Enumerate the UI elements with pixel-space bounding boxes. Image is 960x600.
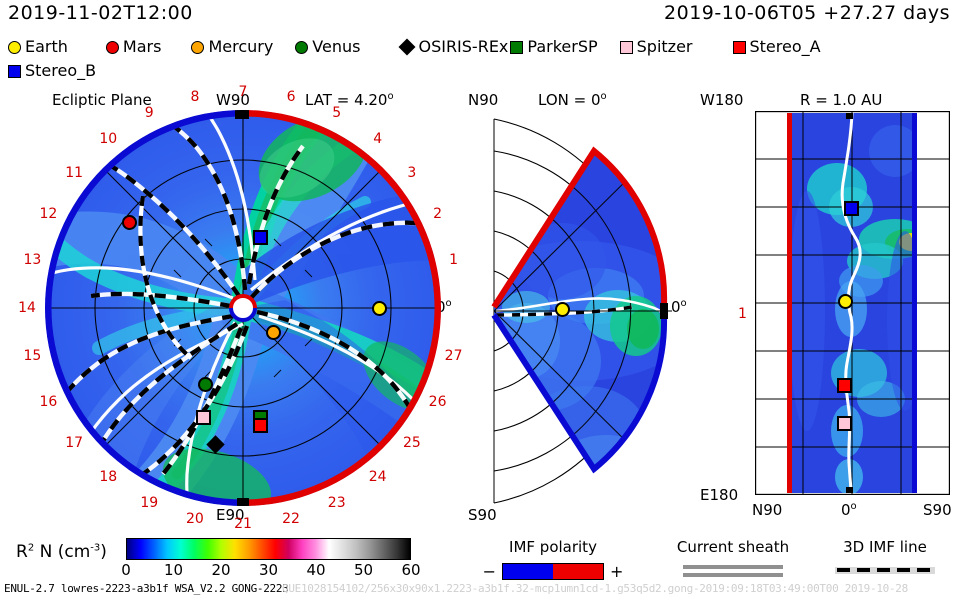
current-sheath-swatch bbox=[648, 565, 818, 577]
ecliptic-ring-label-22: 22 bbox=[282, 512, 300, 526]
legend-3d-imf-line: 3D IMF line bbox=[810, 538, 960, 574]
ecliptic-ring-label-11: 11 bbox=[65, 166, 83, 180]
lat-value: LAT = 4.20 bbox=[305, 91, 387, 109]
legend-item-label: Mercury bbox=[208, 39, 273, 55]
legend-current-sheath: Current sheath bbox=[648, 538, 818, 581]
legend-circle-icon bbox=[8, 41, 21, 54]
ecliptic-ring-label-5: 5 bbox=[332, 106, 341, 120]
legend-item-label: OSIRIS-REx bbox=[418, 39, 508, 55]
ecliptic-ring-label-4: 4 bbox=[373, 132, 382, 146]
lat-degree-sup: o bbox=[387, 91, 393, 102]
panel-ecliptic-plane: Ecliptic Plane LAT = 4.20o W90 E90 0o bbox=[0, 95, 460, 535]
colorbar-label-rest: N (cm bbox=[34, 542, 90, 562]
imf-dash-segment bbox=[917, 568, 930, 572]
ecliptic-ring-label-8: 8 bbox=[190, 90, 199, 104]
body-marker-stereo-b bbox=[844, 201, 859, 216]
legend-item-earth[interactable]: Earth bbox=[8, 36, 68, 58]
legend-circle-icon bbox=[191, 41, 204, 54]
legend-item-label: Stereo_B bbox=[25, 63, 96, 79]
ecliptic-ring-label-10: 10 bbox=[99, 132, 117, 146]
legend-item-stereo-a[interactable]: Stereo_A bbox=[733, 36, 821, 58]
ecliptic-ring-label-15: 15 bbox=[24, 349, 42, 363]
current-sheath-line-2 bbox=[683, 573, 783, 577]
legend-square-icon bbox=[733, 41, 746, 54]
colorbar-tick-50: 50 bbox=[354, 561, 373, 579]
ecliptic-ring-label-26: 26 bbox=[429, 395, 447, 409]
legend-diamond-icon bbox=[399, 39, 416, 56]
imf-dash-segment bbox=[877, 568, 890, 572]
timestamp-run-start: 2019-10-06T05 +27.27 days bbox=[664, 2, 950, 24]
map-xaxis-zero: 0o bbox=[841, 501, 857, 519]
meridional-title: LON = 0o bbox=[538, 91, 607, 109]
current-sheath-title: Current sheath bbox=[648, 538, 818, 556]
ecliptic-ring-label-9: 9 bbox=[145, 106, 154, 120]
imf-dash-segment bbox=[837, 568, 850, 572]
map-xaxis-n90: N90 bbox=[752, 501, 782, 519]
imf-polarity-bar bbox=[502, 563, 604, 580]
imf-polarity-negative-swatch bbox=[503, 564, 553, 579]
body-marker-earth bbox=[372, 301, 387, 316]
map-title: R = 1.0 AU bbox=[800, 91, 882, 109]
legend-item-label: Stereo_A bbox=[750, 39, 821, 55]
panel-meridional: N90 LON = 0o S90 0o bbox=[460, 95, 690, 535]
legend-square-icon bbox=[620, 41, 633, 54]
map-label-e180: E180 bbox=[700, 486, 738, 504]
legend-item-stereo-b[interactable]: Stereo_B bbox=[8, 60, 96, 82]
meridional-lon-sup: o bbox=[601, 91, 607, 102]
map-label-w180: W180 bbox=[700, 91, 743, 109]
colorbar-label-close: ) bbox=[100, 542, 107, 562]
ecliptic-ring-label-3: 3 bbox=[407, 166, 416, 180]
legend-item-label: ParkerSP bbox=[527, 39, 597, 55]
legend-circle-icon bbox=[295, 41, 308, 54]
imf-dash-segment bbox=[897, 568, 910, 572]
colorbar-label-r: R bbox=[16, 542, 28, 562]
imf-dash-segment bbox=[857, 568, 870, 572]
panel-ecliptic-lat-label: LAT = 4.20o bbox=[305, 91, 394, 109]
legend-item-osiris-rex[interactable]: OSIRIS-REx bbox=[400, 36, 508, 58]
map-xaxis-zero-value: 0 bbox=[841, 501, 851, 519]
footer-model-info: ENUL-2.7 lowres-2223-a3b1f WSA_V2.2 GONG… bbox=[4, 582, 289, 595]
zero-deg-sup: o bbox=[446, 298, 452, 309]
colorbar-tick-40: 40 bbox=[306, 561, 325, 579]
colorbar-ticks: 0102030405060 bbox=[126, 561, 411, 581]
imf-polarity-title: IMF polarity bbox=[468, 538, 638, 556]
legend-item-mercury[interactable]: Mercury bbox=[191, 36, 273, 58]
imf-polarity-plus: + bbox=[610, 562, 623, 581]
legend-item-label: Venus bbox=[312, 39, 360, 55]
legend-circle-icon bbox=[106, 41, 119, 54]
ecliptic-ring-label-12: 12 bbox=[39, 207, 57, 221]
ecliptic-disk-wrapper: 1234567891011121314151617181920212223242… bbox=[45, 110, 441, 506]
imf-polarity-positive-swatch bbox=[553, 564, 603, 579]
colorbar-tick-30: 30 bbox=[259, 561, 278, 579]
imf-polarity-minus: − bbox=[483, 562, 496, 581]
ecliptic-ring-label-23: 23 bbox=[328, 496, 346, 510]
ecliptic-ring-label-19: 19 bbox=[140, 496, 158, 510]
ecliptic-ring-label-16: 16 bbox=[39, 395, 57, 409]
ecliptic-ring-label-17: 17 bbox=[65, 436, 83, 450]
legend-item-mars[interactable]: Mars bbox=[106, 36, 162, 58]
colorbar-tick-0: 0 bbox=[121, 561, 131, 579]
map-xaxis-s90: S90 bbox=[923, 501, 952, 519]
colorbar-tick-10: 10 bbox=[164, 561, 183, 579]
legend-square-icon bbox=[8, 65, 21, 78]
body-legend-row-2: Stereo_B bbox=[8, 60, 96, 82]
body-marker-stereo-a bbox=[253, 418, 268, 433]
colorbar-gradient[interactable] bbox=[126, 538, 411, 560]
legend-item-label: Spitzer bbox=[637, 39, 693, 55]
body-marker-spitzer bbox=[196, 410, 211, 425]
body-marker-stereo-b bbox=[253, 230, 268, 245]
colorbar-section: R2 N (cm-3) 0102030405060 ENUL-2.7 lowre… bbox=[0, 536, 460, 598]
meridional-lon-value: LON = 0 bbox=[538, 91, 601, 109]
colorbar-tick-20: 20 bbox=[211, 561, 230, 579]
map-xaxis-zero-sup: o bbox=[851, 501, 857, 512]
footer-run-id: QUE1028154102/256x30x90x1.2223-a3b1f.32-… bbox=[282, 582, 908, 595]
ecliptic-ring-label-2: 2 bbox=[433, 207, 442, 221]
ecliptic-ring-label-20: 20 bbox=[186, 512, 204, 526]
body-marker-spitzer bbox=[837, 416, 852, 431]
legend-item-label: Earth bbox=[25, 39, 68, 55]
legend-item-venus[interactable]: Venus bbox=[295, 36, 360, 58]
ecliptic-ring-label-6: 6 bbox=[287, 90, 296, 104]
imf-line-swatch bbox=[835, 567, 935, 574]
colorbar-axis-label: R2 N (cm-3) bbox=[16, 542, 107, 562]
ecliptic-ring-label-1: 1 bbox=[449, 253, 458, 267]
ecliptic-ring-label-25: 25 bbox=[403, 436, 421, 450]
colorbar-label-unit-exp: -3 bbox=[90, 542, 100, 553]
colorbar-tick-60: 60 bbox=[401, 561, 420, 579]
body-marker-earth bbox=[555, 302, 570, 317]
ecliptic-ring-label-24: 24 bbox=[369, 470, 387, 484]
panel-1au-map: W180 R = 1.0 AU E180 N90 0o S90 1 bbox=[690, 95, 960, 535]
meridional-zero-sup: o bbox=[681, 298, 687, 309]
timestamp-current: 2019-11-02T12:00 bbox=[8, 2, 193, 24]
legend-item-spitzer[interactable]: Spitzer bbox=[620, 36, 693, 58]
map-body-markers bbox=[755, 111, 950, 495]
current-sheath-line-1 bbox=[683, 565, 783, 569]
ecliptic-ring-label-13: 13 bbox=[24, 253, 42, 267]
imf-line-title: 3D IMF line bbox=[810, 538, 960, 556]
panel-ecliptic-title: Ecliptic Plane bbox=[52, 91, 152, 109]
body-legend-row-1: EarthMarsMercuryVenusOSIRIS-RExParkerSPS… bbox=[8, 36, 821, 58]
meridional-body-markers bbox=[486, 111, 676, 511]
ecliptic-ring-label-21: 21 bbox=[234, 517, 252, 531]
body-marker-mars bbox=[122, 215, 137, 230]
ecliptic-ring-label-7: 7 bbox=[239, 85, 248, 99]
ecliptic-ring-label-14: 14 bbox=[18, 301, 36, 315]
body-marker-stereo-a bbox=[837, 378, 852, 393]
legend-imf-polarity: IMF polarity − + bbox=[468, 538, 638, 581]
legend-item-parkersp[interactable]: ParkerSP bbox=[510, 36, 597, 58]
map-yaxis-tick-1: 1 bbox=[738, 306, 747, 322]
body-marker-earth bbox=[838, 294, 853, 309]
legend-item-label: Mars bbox=[123, 39, 162, 55]
ecliptic-ring-label-18: 18 bbox=[99, 470, 117, 484]
meridional-label-n90: N90 bbox=[468, 91, 498, 109]
legend-square-icon bbox=[510, 41, 523, 54]
